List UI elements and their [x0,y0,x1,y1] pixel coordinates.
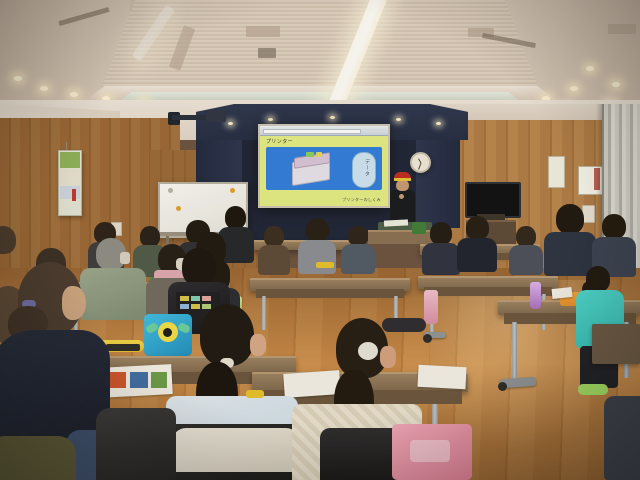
stage-right-pillar [416,128,460,228]
projector-icon [206,110,226,122]
poster-section [60,152,80,168]
shirt-graphic-block [202,304,211,309]
printer-tab-green-icon [306,152,314,157]
woman-face-profile [62,286,86,320]
stage-mini-light [268,118,273,121]
downlight [40,86,48,91]
slide-titlebar [263,129,361,134]
shirt-graphic-block [202,296,211,301]
attendee-head [264,226,284,247]
tissue-pack[interactable] [552,287,573,299]
slide-illustration-area: データ [266,147,382,190]
wall-monitor [465,182,521,218]
table-skirt [256,289,404,298]
ceiling-speaker [258,48,276,58]
presenter-papers [384,219,408,226]
slide-window-chrome [260,126,388,136]
eyeglasses[interactable] [382,318,426,332]
screen-surface: プリンター データ プリンターのしくみ [260,126,388,206]
man-torso-green-shirt [80,268,146,320]
chair-olive[interactable] [0,436,76,480]
downlight [70,92,78,97]
tote-wing-icon [177,322,191,334]
lecture-hall-photo: プリンター データ プリンターのしくみ [0,0,640,480]
character-tote-bag[interactable] [144,314,192,356]
boy-head [182,248,216,286]
attendee-torso [422,243,460,275]
attendee-head [140,226,160,247]
attendee-head [516,226,536,247]
poster-section [60,169,80,185]
chair-back[interactable] [592,324,640,364]
girl-face-profile [250,334,266,356]
ceiling-vent [246,26,280,37]
poster-left [58,150,82,216]
shirt-graphic-block [191,296,200,301]
presenter-hand [399,194,404,199]
poster-section [60,199,80,215]
stage-mini-light [436,122,441,125]
poster-right-upper [548,156,565,188]
attendee-torso [341,244,375,274]
downlight [586,66,594,71]
printer-tab-yellow-icon [316,152,322,157]
tote-wing-icon [145,322,159,334]
attendee-torso [457,238,497,272]
face-mask [120,252,130,264]
green-box-prop [412,222,426,234]
projection-screen: プリンター データ プリンターのしくみ [258,124,390,208]
backpack-pocket [410,440,450,462]
chair-back[interactable] [96,408,176,480]
attendee-torso [509,245,543,275]
poster-accent [72,189,76,201]
speech-bubble-text: データ [364,159,371,177]
clock-minute-hand [418,162,421,169]
whiteboard-magnet[interactable] [230,188,235,193]
handout-image [130,372,148,388]
slide-window-controls [365,129,385,132]
ceiling-vent [608,24,636,34]
slide-title-text: プリンター [266,138,293,145]
downlight [612,82,620,87]
attendee-head [306,218,329,242]
whiteboard-magnet[interactable] [176,206,181,211]
handout-image [151,372,167,388]
stage-mini-light [330,116,335,119]
stage-mini-light [228,122,233,125]
presenter-head [396,180,409,191]
slide-content: プリンター データ プリンターのしくみ [260,126,388,206]
hair-clip [246,390,264,398]
wall-clock-icon [410,152,431,173]
water-bottle-pink[interactable] [424,290,438,324]
hair-scrunchie [358,342,378,360]
table-caster-wheel [423,334,432,343]
shirt-graphic-block [180,296,189,301]
attendee-head [225,206,246,229]
tote-character-eye [163,328,172,337]
whiteboard-magnet[interactable] [168,188,173,193]
attendee-head [430,222,452,245]
water-bottle-purple[interactable] [530,282,541,309]
handout-papers[interactable] [417,365,466,389]
table-leg [512,322,517,384]
attendee-head [602,214,626,239]
presenter-cap-band [394,178,411,181]
attendee-head [556,204,584,234]
yellow-pencil-case[interactable] [316,262,334,268]
handout-papers[interactable] [283,370,341,398]
attendee-head [348,226,368,246]
attendee-head [466,216,489,240]
attendee-torso [258,245,290,275]
stage-mini-light [396,118,401,121]
pink-backpack[interactable] [392,424,472,480]
downlight [14,76,22,81]
girl-face-profile [380,346,396,368]
child-shoe[interactable] [578,384,608,395]
girl-head [200,304,254,366]
downlight [570,86,578,91]
shirt-graphic-block [180,304,189,309]
slide-caption-text: プリンターのしくみ [342,197,381,203]
attendee-torso [604,396,640,480]
table-caster-wheel [498,382,507,391]
table-leg [262,296,266,330]
stationery-item[interactable] [106,344,140,351]
fleece-chair-cover[interactable] [172,428,300,472]
attendee-torso [298,240,336,274]
shirt-graphic-block [191,304,200,309]
